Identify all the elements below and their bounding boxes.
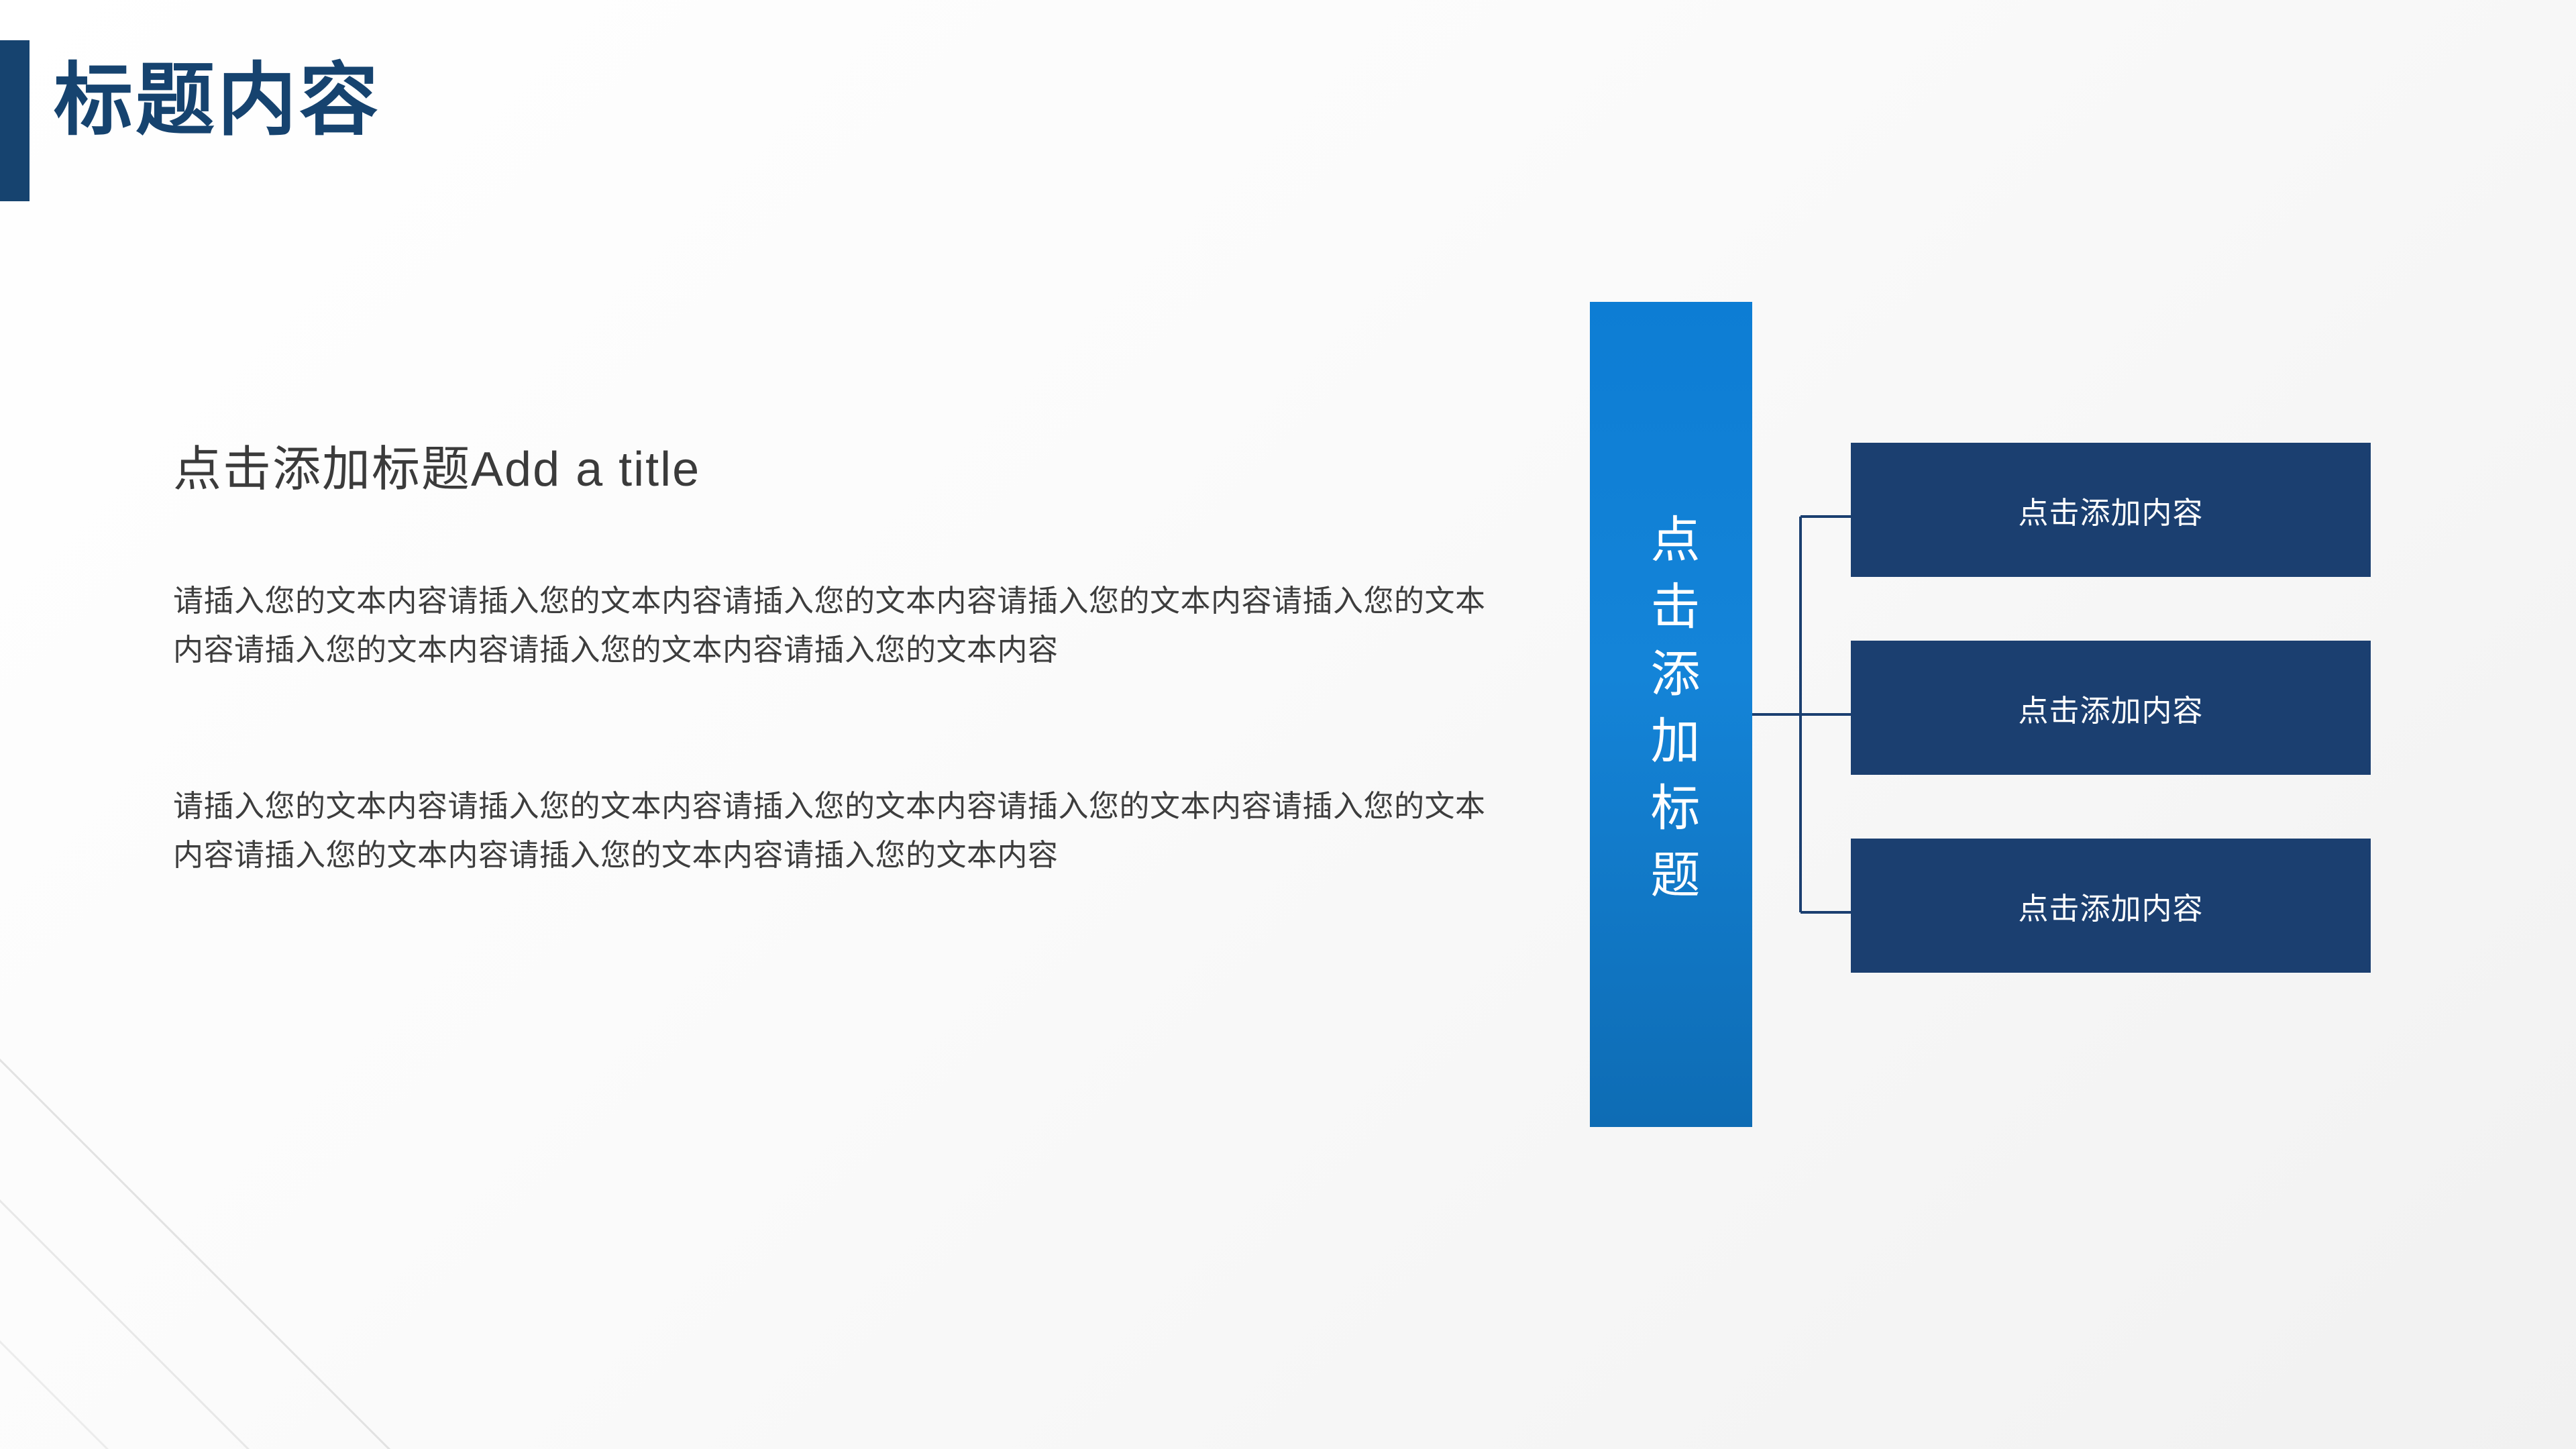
slide-canvas: 标题内容 点击添加标题Add a title 请插入您的文本内容请插入您的文本内… [0,0,2576,1449]
diagram-box-3-label: 点击添加内容 [2018,884,2203,928]
diagram-connector-lines [1752,302,1853,1127]
section-subtitle: 点击添加标题Add a title [173,429,1501,500]
diagram-box-2[interactable]: 点击添加内容 [1851,641,2371,775]
diagram-box-3[interactable]: 点击添加内容 [1851,839,2371,973]
decorative-diagonal-lines [0,899,523,1449]
diagram-group: 点击添加标题 点击添加内容 点击添加内容 点击添加内容 [1590,295,2435,1140]
diagram-vertical-bar-label: 点击添加标题 [1646,513,1696,916]
diagram-box-1-label: 点击添加内容 [2018,488,2203,532]
page-title: 标题内容 [54,54,381,149]
body-paragraph-2: 请插入您的文本内容请插入您的文本内容请插入您的文本内容请插入您的文本内容请插入您… [173,782,1501,880]
title-accent-bar [0,40,30,201]
diagram-box-2-label: 点击添加内容 [2018,686,2203,730]
diagram-vertical-bar[interactable]: 点击添加标题 [1590,302,1752,1127]
diagram-box-1[interactable]: 点击添加内容 [1851,443,2371,577]
left-text-column: 点击添加标题Add a title 请插入您的文本内容请插入您的文本内容请插入您… [173,429,1501,880]
body-paragraph-1: 请插入您的文本内容请插入您的文本内容请插入您的文本内容请插入您的文本内容请插入您… [173,577,1501,675]
